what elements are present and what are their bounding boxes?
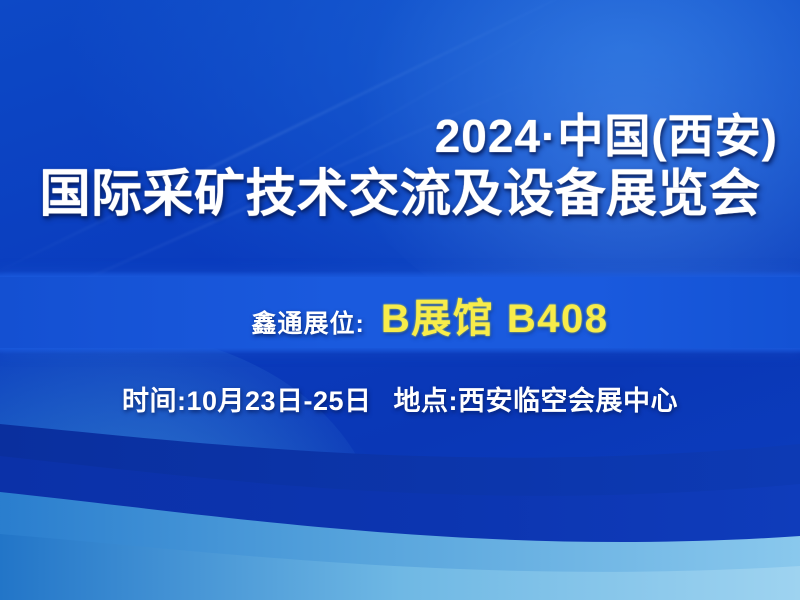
- event-date: 时间:10月23日-25日: [122, 379, 372, 418]
- event-venue: 地点:西安临空会展中心: [394, 379, 679, 418]
- bottom-wave-decoration: [0, 410, 800, 600]
- exhibition-poster: 2024·中国(西安) 国际采矿技术交流及设备展览会 鑫通展位: B展馆 B40…: [0, 0, 800, 600]
- booth-info: 鑫通展位: B展馆 B408: [0, 286, 800, 344]
- booth-label: 鑫通展位:: [252, 304, 365, 340]
- title-line-event-name: 国际采矿技术交流及设备展览会: [0, 166, 800, 222]
- event-meta: 时间:10月23日-25日 地点:西安临空会展中心: [0, 379, 800, 418]
- booth-number: B展馆 B408: [381, 286, 609, 344]
- wave-shapes-icon: [0, 410, 800, 600]
- title-line-year-city: 2024·中国(西安): [0, 112, 800, 162]
- poster-title: 2024·中国(西安) 国际采矿技术交流及设备展览会: [0, 112, 800, 222]
